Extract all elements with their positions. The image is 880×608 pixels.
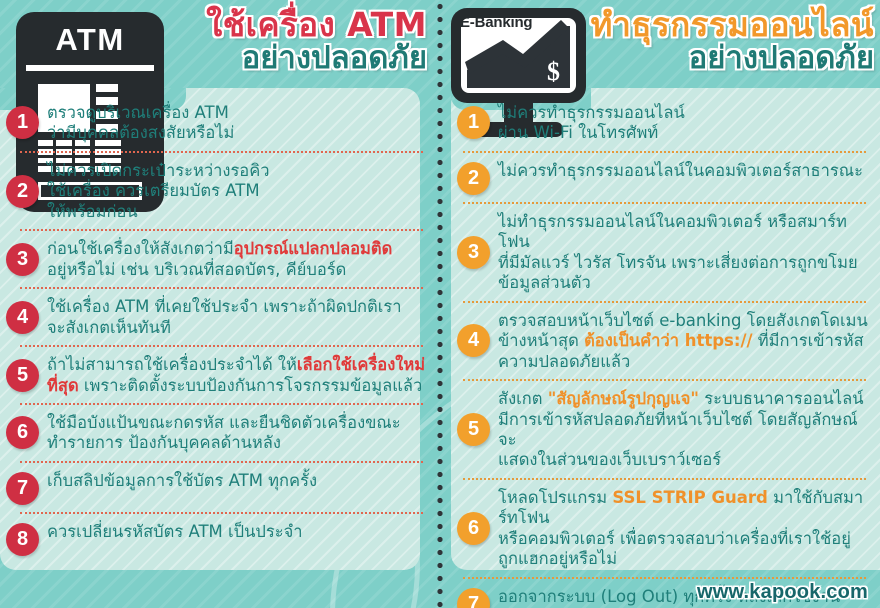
tip-text: ไม่ทำธุรกรรมออนไลน์ในคอมพิวเตอร์ หรือสมา…	[498, 211, 870, 294]
tip-text-line: โหลดโปรแกรม SSL STRIP Guard มาใช้กับสมาร…	[498, 488, 870, 529]
tip-text-segment: ว่ามีบุคคลต้องสงสัยหรือไม่	[47, 123, 234, 142]
tip-text-segment: ความปลอดภัยแล้ว	[498, 352, 630, 371]
tip-item: 1ตรวจดูบริเวณเครื่อง ATMว่ามีบุคคลต้องสง…	[0, 96, 437, 150]
atm-divider-rule	[26, 65, 154, 71]
monitor-frame: $ E-Banking	[451, 8, 586, 103]
tip-number-badge: 8	[6, 523, 39, 556]
tip-text-highlight: "สัญลักษณ์รูปกุญแจ"	[548, 389, 699, 408]
tip-text-segment: ถูกแฮกอยู่หรือไม่	[498, 549, 617, 568]
tip-separator	[463, 577, 866, 579]
tip-text: ก่อนใช้เครื่องให้สังเกตว่ามีอุปกรณ์แปลกป…	[47, 238, 427, 280]
tip-text-segment: เก็บสลิปข้อมูลการใช้บัตร ATM ทุกครั้ง	[47, 471, 317, 490]
tip-text-line: ไม่ควรเปิดกระเป๋าระหว่างรอคิว	[47, 161, 427, 181]
tip-number-badge: 4	[6, 301, 39, 334]
tip-item: 4ใช้เครื่อง ATM ที่เคยใช้ประจำ เพราะถ้าผ…	[0, 290, 437, 344]
tip-text-segment: ตรวจสอบหน้าเว็บไซต์ e-banking โดยสังเกตโ…	[498, 311, 868, 330]
tip-number-badge: 5	[6, 359, 39, 392]
tip-number-badge: 1	[457, 106, 490, 139]
tip-text-highlight: เลือกใช้เครื่องใหม่	[297, 355, 425, 374]
tip-text-line: ที่มีมัลแวร์ ไวรัส โทรจัน เพราะเสี่ยงต่อ…	[498, 253, 870, 273]
tip-item: 5ถ้าไม่สามารถใช้เครื่องประจำได้ ให้เลือก…	[0, 348, 437, 402]
tip-text: ไม่ควรทำธุรกรรมออนไลน์ผ่าน Wi-Fi ในโทรศั…	[498, 102, 870, 144]
tip-text-segment: ใช้เครื่อง ควรเตรียมบัตร ATM	[47, 181, 260, 200]
tip-text-segment: ควรเปลี่ยนรหัสบัตร ATM เป็นประจำ	[47, 522, 303, 541]
heading-atm-line2: อย่างปลอดภัย	[157, 43, 427, 74]
tip-text-segment: แสดงในส่วนของเว็บเบราว์เซอร์	[498, 450, 721, 469]
tip-number-badge: 3	[457, 236, 490, 269]
tip-text: ใช้มือบังแป้นขณะกดรหัส และยืนชิดตัวเครื่…	[47, 412, 427, 454]
tip-text-line: หรือคอมพิวเตอร์ เพื่อตรวจสอบว่าเครื่องที…	[498, 529, 870, 549]
tip-text-segment: ผ่าน Wi-Fi ในโทรศัพท์	[498, 123, 658, 142]
tip-number-badge: 7	[457, 588, 490, 608]
tip-text-segment: จะสังเกตเห็นทันที	[47, 318, 171, 337]
tip-text: ใช้เครื่อง ATM ที่เคยใช้ประจำ เพราะถ้าผิ…	[47, 296, 427, 338]
tip-text-line: ตรวจสอบหน้าเว็บไซต์ e-banking โดยสังเกตโ…	[498, 311, 870, 331]
tip-text-segment: ทำรายการ ป้องกันบุคคลด้านหลัง	[47, 433, 281, 452]
tip-text-segment: โหลดโปรแกรม	[498, 488, 612, 507]
source-url: www.kapook.com	[697, 581, 868, 604]
tip-text-line: ทำรายการ ป้องกันบุคคลด้านหลัง	[47, 433, 427, 453]
tip-separator	[20, 287, 423, 289]
tip-item: 3ก่อนใช้เครื่องให้สังเกตว่ามีอุปกรณ์แปลก…	[0, 232, 437, 286]
tip-text-segment: ไม่ควรเปิดกระเป๋าระหว่างรอคิว	[47, 161, 270, 180]
tip-text-line: ว่ามีบุคคลต้องสงสัยหรือไม่	[47, 123, 427, 143]
tip-text-highlight: ที่สุด	[47, 376, 79, 395]
column-ebanking: $ E-Banking ทำธุรกรรมออนไลน์ อย่างปลอดภั…	[443, 0, 880, 608]
tip-text-line: ไม่ทำธุรกรรมออนไลน์ในคอมพิวเตอร์ หรือสมา…	[498, 212, 870, 253]
tip-separator	[463, 379, 866, 381]
tip-text-line: ตรวจดูบริเวณเครื่อง ATM	[47, 103, 427, 123]
tip-text: ตรวจดูบริเวณเครื่อง ATMว่ามีบุคคลต้องสงส…	[47, 102, 427, 144]
tip-text-line: แสดงในส่วนของเว็บเบราว์เซอร์	[498, 450, 870, 470]
tips-list-atm: 1ตรวจดูบริเวณเครื่อง ATMว่ามีบุคคลต้องสง…	[0, 96, 437, 562]
tip-text-line: ที่สุด เพราะติดตั้งระบบป้องกันการโจรกรรม…	[47, 376, 427, 396]
tip-item: 6โหลดโปรแกรม SSL STRIP Guard มาใช้กับสมา…	[443, 481, 880, 576]
tip-item: 4ตรวจสอบหน้าเว็บไซต์ e-banking โดยสังเกต…	[443, 304, 880, 378]
tip-text-segment: หรือคอมพิวเตอร์ เพื่อตรวจสอบว่าเครื่องที…	[498, 529, 851, 548]
heading-ebanking: ทำธุรกรรมออนไลน์ อย่างปลอดภัย	[584, 8, 874, 74]
tip-text-line: ผ่าน Wi-Fi ในโทรศัพท์	[498, 123, 870, 143]
tip-text-line: ให้พร้อมก่อน	[47, 202, 427, 222]
tip-text-segment: ตรวจดูบริเวณเครื่อง ATM	[47, 103, 229, 122]
heading-atm: ใช้เครื่อง ATM อย่างปลอดภัย	[157, 8, 427, 74]
tip-text: ไม่ควรเปิดกระเป๋าระหว่างรอคิวใช้เครื่อง …	[47, 160, 427, 222]
tip-text: ไม่ควรทำธุรกรรมออนไลน์ในคอมพิวเตอร์สาธาร…	[498, 160, 870, 181]
tip-text-segment: มีการเข้ารหัสปลอดภัยที่หน้าเว็บไซต์ โดยส…	[498, 410, 858, 449]
tip-separator	[20, 461, 423, 463]
tip-number-badge: 1	[6, 106, 39, 139]
tip-separator	[463, 202, 866, 204]
heading-ebanking-line1: ทำธุรกรรมออนไลน์	[584, 8, 874, 41]
tip-item: 6ใช้มือบังแป้นขณะกดรหัส และยืนชิดตัวเครื…	[0, 406, 437, 460]
tip-text-segment: อยู่หรือไม่ เช่น บริเวณที่สอดบัตร, คีย์บ…	[47, 260, 346, 279]
tip-text-line: สังเกต "สัญลักษณ์รูปกุญแจ" ระบบธนาคารออน…	[498, 389, 870, 409]
tip-separator	[463, 301, 866, 303]
tip-separator	[463, 478, 866, 480]
tip-item: 7เก็บสลิปข้อมูลการใช้บัตร ATM ทุกครั้ง	[0, 464, 437, 511]
tip-separator	[20, 229, 423, 231]
tip-item: 8ควรเปลี่ยนรหัสบัตร ATM เป็นประจำ	[0, 515, 437, 562]
tip-text-line: ใช้มือบังแป้นขณะกดรหัส และยืนชิดตัวเครื่…	[47, 413, 427, 433]
tip-number-badge: 4	[457, 324, 490, 357]
tip-text-line: ข้างหน้าสุด ต้องเป็นคำว่า https:// ที่มี…	[498, 331, 870, 351]
tip-text-segment: ก่อนใช้เครื่องให้สังเกตว่ามี	[47, 239, 234, 258]
tip-text-line: อยู่หรือไม่ เช่น บริเวณที่สอดบัตร, คีย์บ…	[47, 260, 427, 280]
tip-separator	[20, 512, 423, 514]
tip-text-line: เก็บสลิปข้อมูลการใช้บัตร ATM ทุกครั้ง	[47, 471, 427, 491]
tip-text-line: จะสังเกตเห็นทันที	[47, 318, 427, 338]
column-atm: ATM ใช้เครื่อง ATM อย่างปลอดภัย 1ตรวจดูบ…	[0, 0, 437, 608]
heading-atm-line1: ใช้เครื่อง ATM	[157, 8, 427, 41]
tip-text-line: ใช้เครื่อง ควรเตรียมบัตร ATM	[47, 181, 427, 201]
tip-number-badge: 6	[6, 416, 39, 449]
tip-item: 5สังเกต "สัญลักษณ์รูปกุญแจ" ระบบธนาคารออ…	[443, 382, 880, 477]
svg-text:$: $	[547, 57, 560, 86]
tip-number-badge: 5	[457, 413, 490, 446]
heading-ebanking-line2: อย่างปลอดภัย	[584, 43, 874, 74]
tip-text-highlight: อุปกรณ์แปลกปลอมติด	[234, 239, 393, 258]
tip-text: ถ้าไม่สามารถใช้เครื่องประจำได้ ให้เลือกใ…	[47, 354, 427, 396]
tip-item: 2ไม่ควรทำธุรกรรมออนไลน์ในคอมพิวเตอร์สาธา…	[443, 154, 880, 201]
tip-text: สังเกต "สัญลักษณ์รูปกุญแจ" ระบบธนาคารออน…	[498, 388, 870, 471]
tip-text-line: ไม่ควรทำธุรกรรมออนไลน์	[498, 103, 870, 123]
tip-item: 1ไม่ควรทำธุรกรรมออนไลน์ผ่าน Wi-Fi ในโทรศ…	[443, 96, 880, 150]
tip-text-segment: ให้พร้อมก่อน	[47, 202, 138, 221]
tips-list-ebanking: 1ไม่ควรทำธุรกรรมออนไลน์ผ่าน Wi-Fi ในโทรศ…	[443, 96, 880, 608]
tip-text-line: ถ้าไม่สามารถใช้เครื่องประจำได้ ให้เลือกใ…	[47, 355, 427, 375]
tip-text-line: ข้อมูลส่วนตัว	[498, 273, 870, 293]
tip-text-line: ถูกแฮกอยู่หรือไม่	[498, 549, 870, 569]
tip-text-line: ใช้เครื่อง ATM ที่เคยใช้ประจำ เพราะถ้าผิ…	[47, 297, 427, 317]
tip-text-segment: ใช้มือบังแป้นขณะกดรหัส และยืนชิดตัวเครื่…	[47, 413, 401, 432]
tip-text-line: ความปลอดภัยแล้ว	[498, 352, 870, 372]
tip-text-segment: ไม่ควรทำธุรกรรมออนไลน์ในคอมพิวเตอร์สาธาร…	[498, 161, 863, 180]
tip-text-segment: สังเกต	[498, 389, 548, 408]
tip-text-segment: ข้างหน้าสุด	[498, 331, 584, 350]
tip-text-segment: ที่มีมัลแวร์ ไวรัส โทรจัน เพราะเสี่ยงต่อ…	[498, 253, 858, 272]
tip-number-badge: 3	[6, 243, 39, 276]
tip-text: ควรเปลี่ยนรหัสบัตร ATM เป็นประจำ	[47, 521, 427, 542]
tip-text-line: ก่อนใช้เครื่องให้สังเกตว่ามีอุปกรณ์แปลกป…	[47, 239, 427, 259]
tip-text-segment: ไม่ควรทำธุรกรรมออนไลน์	[498, 103, 685, 122]
tip-item: 2ไม่ควรเปิดกระเป๋าระหว่างรอคิวใช้เครื่อง…	[0, 154, 437, 228]
tip-separator	[463, 151, 866, 153]
tip-number-badge: 6	[457, 512, 490, 545]
tip-text-segment: ถ้าไม่สามารถใช้เครื่องประจำได้ ให้	[47, 355, 297, 374]
tip-text-segment: ข้อมูลส่วนตัว	[498, 273, 591, 292]
tip-separator	[20, 151, 423, 153]
tip-separator	[20, 345, 423, 347]
e-banking-screen-label: E-Banking	[460, 14, 532, 31]
tip-text-line: ไม่ควรทำธุรกรรมออนไลน์ในคอมพิวเตอร์สาธาร…	[498, 161, 870, 181]
tip-number-badge: 7	[6, 472, 39, 505]
infographic-root: ATM ใช้เครื่อง ATM อย่างปลอดภัย 1ตรวจดูบ…	[0, 0, 880, 608]
tip-text-segment: ระบบธนาคารออนไลน์	[699, 389, 863, 408]
tip-separator	[20, 403, 423, 405]
tip-text-segment: เพราะติดตั้งระบบป้องกันการโจรกรรมข้อมูลแ…	[79, 376, 423, 395]
tip-text-line: ควรเปลี่ยนรหัสบัตร ATM เป็นประจำ	[47, 522, 427, 542]
tip-text-highlight: ต้องเป็นคำว่า https://	[584, 331, 752, 350]
tip-number-badge: 2	[6, 175, 39, 208]
tip-number-badge: 2	[457, 162, 490, 195]
tip-text: ตรวจสอบหน้าเว็บไซต์ e-banking โดยสังเกตโ…	[498, 310, 870, 372]
tip-text: เก็บสลิปข้อมูลการใช้บัตร ATM ทุกครั้ง	[47, 470, 427, 491]
tip-text-segment: ใช้เครื่อง ATM ที่เคยใช้ประจำ เพราะถ้าผิ…	[47, 297, 402, 316]
tip-text-highlight: SSL STRIP Guard	[612, 488, 767, 507]
tip-text-segment: ที่มีการเข้ารหัส	[753, 331, 864, 350]
tip-item: 3ไม่ทำธุรกรรมออนไลน์ในคอมพิวเตอร์ หรือสม…	[443, 205, 880, 300]
atm-icon-label: ATM	[16, 22, 164, 58]
tip-text: โหลดโปรแกรม SSL STRIP Guard มาใช้กับสมาร…	[498, 487, 870, 570]
tip-text-line: มีการเข้ารหัสปลอดภัยที่หน้าเว็บไซต์ โดยส…	[498, 410, 870, 451]
tip-text-segment: ไม่ทำธุรกรรมออนไลน์ในคอมพิวเตอร์ หรือสมา…	[498, 212, 847, 251]
